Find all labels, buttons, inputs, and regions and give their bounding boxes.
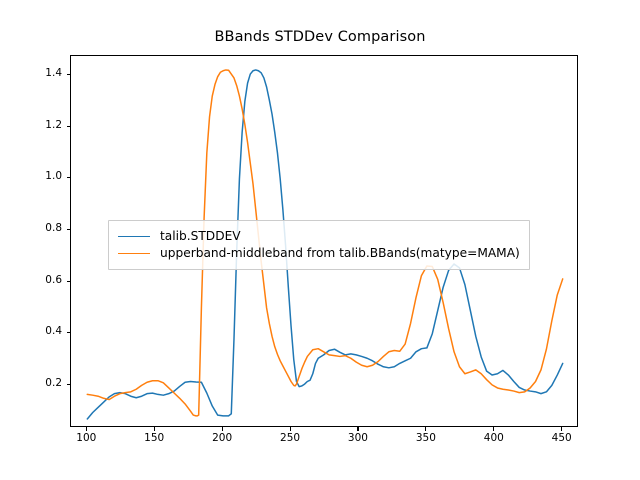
x-tick-mark bbox=[493, 427, 494, 431]
x-tick-label: 300 bbox=[348, 432, 368, 444]
legend-label-stddev: talib.STDDEV bbox=[160, 228, 241, 245]
x-tick-label: 400 bbox=[484, 432, 504, 444]
legend-swatch-stddev bbox=[118, 236, 150, 237]
x-tick-label: 200 bbox=[212, 432, 232, 444]
legend-swatch-bbands bbox=[118, 253, 150, 254]
x-tick-mark bbox=[86, 427, 87, 431]
x-tick-label: 250 bbox=[280, 432, 300, 444]
x-tick-mark bbox=[222, 427, 223, 431]
x-tick-label: 150 bbox=[144, 432, 164, 444]
x-tick-mark bbox=[154, 427, 155, 431]
legend-entry-stddev: talib.STDDEV bbox=[118, 228, 520, 245]
x-tick-mark bbox=[561, 427, 562, 431]
x-tick-mark bbox=[290, 427, 291, 431]
matplotlib-figure: BBands STDDev Comparison 0.20.40.60.81.0… bbox=[0, 0, 640, 480]
x-tick-label: 450 bbox=[552, 432, 572, 444]
x-tick-label: 100 bbox=[76, 432, 96, 444]
chart-legend: talib.STDDEV upperband-middleband from t… bbox=[108, 220, 530, 270]
legend-label-bbands: upperband-middleband from talib.BBands(m… bbox=[160, 245, 520, 262]
x-tick-mark bbox=[425, 427, 426, 431]
x-tick-mark bbox=[357, 427, 358, 431]
x-tick-label: 350 bbox=[416, 432, 436, 444]
legend-entry-bbands: upperband-middleband from talib.BBands(m… bbox=[118, 245, 520, 262]
